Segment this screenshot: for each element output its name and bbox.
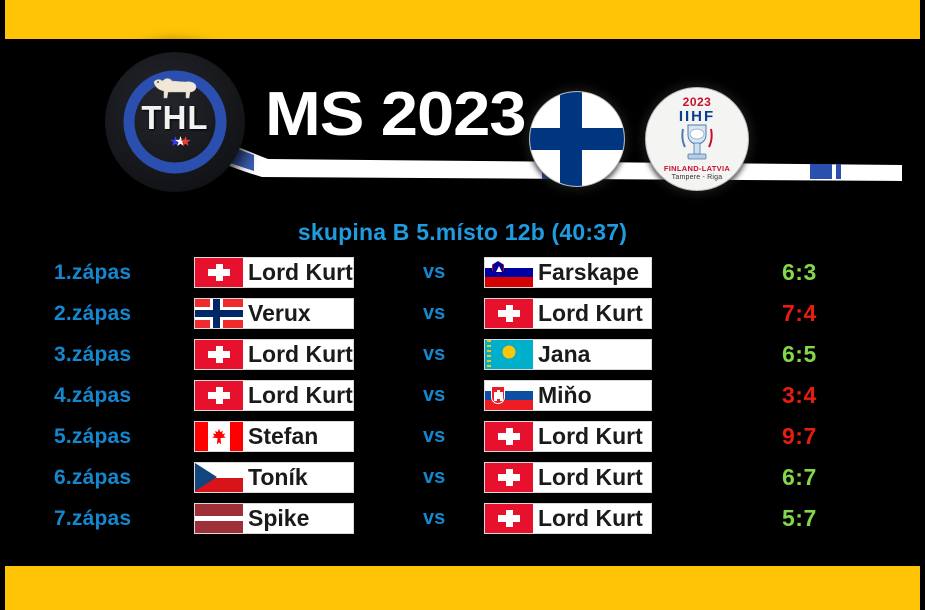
match-score: 7:4: [782, 300, 872, 327]
match-score: 3:4: [782, 382, 872, 409]
vs-separator: vs: [423, 261, 483, 284]
flag-icon-switzerland: [485, 299, 533, 328]
match-number-label: 6.zápas: [54, 466, 174, 490]
away-team: Farskape: [484, 257, 652, 288]
flag-icon-slovakia: [485, 381, 533, 410]
vs-separator: vs: [423, 466, 483, 489]
iihf-year: 2023: [683, 95, 712, 109]
away-team: Lord Kurt: [484, 298, 652, 329]
flag-icon-norway: [195, 299, 243, 328]
iihf-cities: Tampere - Riga: [672, 174, 723, 181]
away-team: Lord Kurt: [484, 421, 652, 452]
flag-icon-switzerland: [485, 504, 533, 533]
home-team-name: Lord Kurt: [243, 261, 353, 284]
match-row-1: 1.zápas Lord Kurt vs Farskape 6:3: [0, 252, 925, 293]
home-team: Stefan: [194, 421, 354, 452]
match-list: 1.zápas Lord Kurt vs Farskape 6:3 2.zápa…: [0, 252, 925, 539]
match-row-5: 5.zápas Stefan vs Lord Kurt 9:7: [0, 416, 925, 457]
away-team: Miňo: [484, 380, 652, 411]
vs-separator: vs: [423, 425, 483, 448]
match-number-label: 3.zápas: [54, 343, 174, 367]
flag-icon-latvia: [195, 504, 243, 533]
match-row-4: 4.zápas Lord Kurt vs Miňo 3:4: [0, 375, 925, 416]
flag-icon-switzerland: [195, 381, 243, 410]
flag-icon-switzerland: [485, 463, 533, 492]
flag-icon-kazakhstan: [485, 340, 533, 369]
match-number-label: 2.zápas: [54, 302, 174, 326]
match-number-label: 1.zápas: [54, 261, 174, 285]
away-team-name: Jana: [533, 343, 590, 366]
vs-separator: vs: [423, 384, 483, 407]
bottom-accent-band: [5, 566, 920, 610]
vs-separator: vs: [423, 507, 483, 530]
match-row-2: 2.zápas Verux vs Lord Kurt 7:4: [0, 293, 925, 334]
group-standing-subtitle: skupina B 5.místo 12b (40:37): [0, 219, 925, 246]
away-team-name: Lord Kurt: [533, 425, 643, 448]
finland-flag-badge: [529, 91, 625, 187]
match-row-6: 6.zápas Toník vs Lord Kurt 6:7: [0, 457, 925, 498]
home-team-name: Verux: [243, 302, 311, 325]
home-team-name: Lord Kurt: [243, 384, 353, 407]
page-title: MS 2023: [265, 84, 525, 146]
trophy-icon: [680, 123, 714, 163]
home-team-name: Lord Kurt: [243, 343, 353, 366]
match-score: 5:7: [782, 505, 872, 532]
flag-icon-switzerland: [195, 258, 243, 287]
home-team: Lord Kurt: [194, 339, 354, 370]
away-team: Lord Kurt: [484, 462, 652, 493]
away-team-name: Lord Kurt: [533, 507, 643, 530]
home-team: Lord Kurt: [194, 380, 354, 411]
match-number-label: 4.zápas: [54, 384, 174, 408]
match-score: 9:7: [782, 423, 872, 450]
match-score: 6:5: [782, 341, 872, 368]
top-accent-band: [5, 0, 920, 39]
away-team-name: Farskape: [533, 261, 639, 284]
home-team-name: Toník: [243, 466, 308, 489]
iihf-event-badge: 2023 IIHF FINLAND-LATVIA Tampere - Riga: [645, 87, 749, 191]
poster-canvas: THL MS 2023 2023 IIHF: [0, 0, 925, 610]
vs-separator: vs: [423, 302, 483, 325]
away-team-name: Lord Kurt: [533, 466, 643, 489]
flag-icon-slovenia: [485, 258, 533, 287]
flag-icon-switzerland: [195, 340, 243, 369]
away-team: Lord Kurt: [484, 503, 652, 534]
away-team-name: Lord Kurt: [533, 302, 643, 325]
home-team: Verux: [194, 298, 354, 329]
polar-bear-icon: [152, 76, 198, 100]
home-team: Lord Kurt: [194, 257, 354, 288]
home-team-name: Spike: [243, 507, 309, 530]
away-team-name: Miňo: [533, 384, 592, 407]
logo-text: THL: [141, 101, 208, 134]
thl-logo-puck: THL: [105, 52, 245, 192]
match-number-label: 7.zápas: [54, 507, 174, 531]
home-team: Spike: [194, 503, 354, 534]
home-team: Toník: [194, 462, 354, 493]
match-row-7: 7.zápas Spike vs Lord Kurt 5:7: [0, 498, 925, 539]
home-team-name: Stefan: [243, 425, 318, 448]
poster-header: THL MS 2023 2023 IIHF: [0, 39, 925, 214]
match-row-3: 3.zápas Lord Kurt vs Jana 6:5: [0, 334, 925, 375]
match-number-label: 5.zápas: [54, 425, 174, 449]
match-score: 6:3: [782, 259, 872, 286]
flag-icon-canada: [195, 422, 243, 451]
match-score: 6:7: [782, 464, 872, 491]
flag-icon-switzerland: [485, 422, 533, 451]
vs-separator: vs: [423, 343, 483, 366]
iihf-hosts: FINLAND-LATVIA: [664, 164, 730, 173]
away-team: Jana: [484, 339, 652, 370]
flag-icon-czechia: [195, 463, 243, 492]
